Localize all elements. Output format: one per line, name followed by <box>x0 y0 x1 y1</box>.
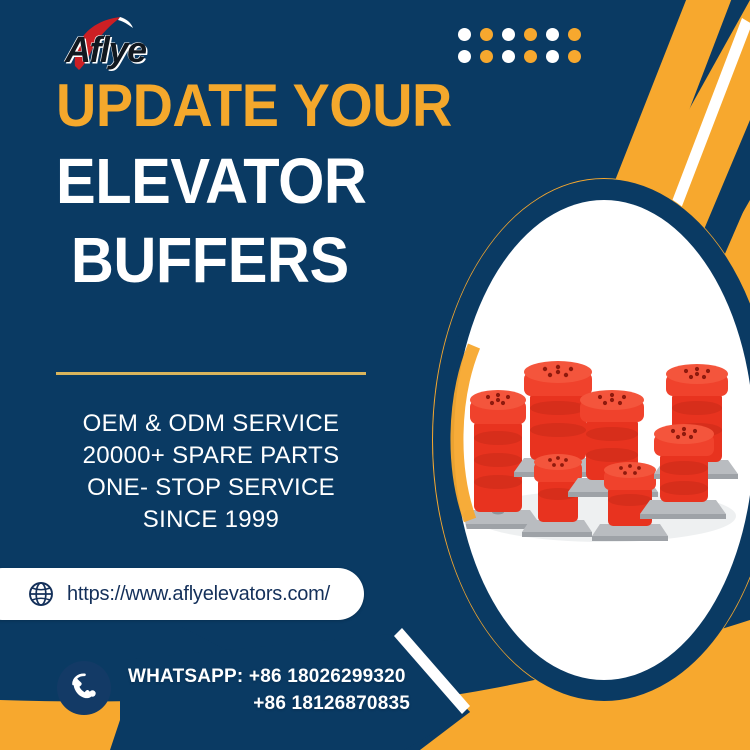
dot <box>524 28 537 41</box>
brand-logo[interactable]: Aflye <box>57 14 187 72</box>
headline-line-2: ELEVATOR <box>56 152 428 212</box>
dot <box>480 50 493 63</box>
feature-item: SINCE 1999 <box>56 504 366 536</box>
headline-block: UPDATE YOUR ELEVATOR BUFFERS <box>56 78 456 291</box>
dot <box>502 28 515 41</box>
dot <box>546 28 559 41</box>
dot <box>568 28 581 41</box>
brand-logo-text: Aflye <box>65 32 146 68</box>
phone-icon <box>67 671 101 705</box>
dot <box>458 28 471 41</box>
globe-icon <box>28 581 54 607</box>
feature-item: 20000+ SPARE PARTS <box>56 440 366 472</box>
dot <box>524 50 537 63</box>
dot <box>568 50 581 63</box>
feature-item: OEM & ODM SERVICE <box>56 408 366 440</box>
gold-divider <box>56 372 366 375</box>
dot <box>458 50 471 63</box>
dot <box>546 50 559 63</box>
feature-item: ONE- STOP SERVICE <box>56 472 366 504</box>
dot-grid-decoration <box>458 28 590 72</box>
website-pill[interactable]: https://www.aflyelevators.com/ <box>0 568 364 620</box>
poster-canvas: Aflye UPDATE YOUR ELEVATOR BUFFERS OEM &… <box>0 0 750 750</box>
dot <box>502 50 515 63</box>
contact-block: WHATSAPP: +86 18026299320 +86 1812687083… <box>128 664 418 718</box>
whatsapp-line-2: +86 18126870835 <box>128 691 418 718</box>
dot <box>480 28 493 41</box>
feature-list: OEM & ODM SERVICE 20000+ SPARE PARTS ONE… <box>56 408 366 536</box>
whatsapp-line-1: WHATSAPP: +86 18026299320 <box>128 664 418 691</box>
phone-badge[interactable] <box>57 661 111 715</box>
headline-line-3: BUFFERS <box>56 231 428 291</box>
headline-line-1: UPDATE YOUR <box>56 78 428 134</box>
website-url: https://www.aflyelevators.com/ <box>67 583 330 606</box>
